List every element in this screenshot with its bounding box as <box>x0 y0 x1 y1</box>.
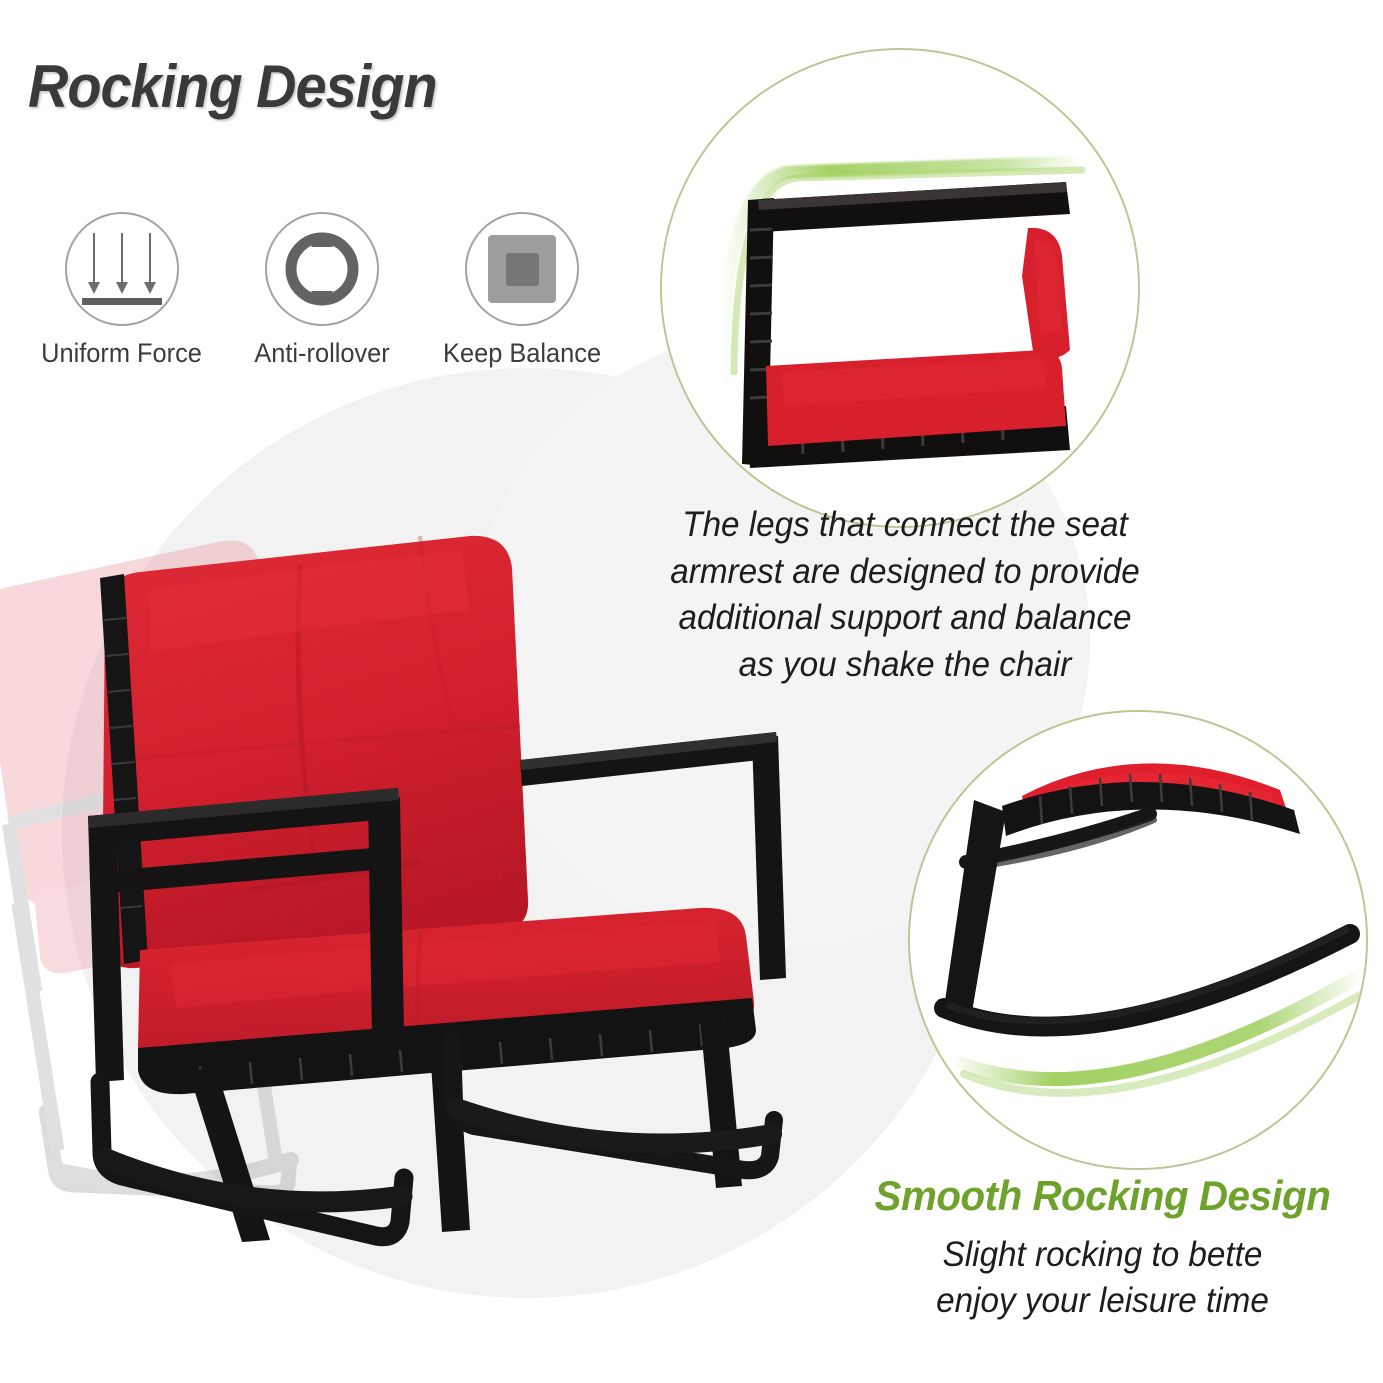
armrest-frame-closeup <box>662 50 1138 526</box>
caption-line: as you shake the chair <box>620 642 1190 689</box>
caption-line: Slight rocking to bette <box>844 1232 1362 1278</box>
feature-icon-row: Uniform Force Anti-rollover <box>22 212 622 392</box>
infographic-canvas: Rocking Design Uniform Force <box>0 0 1383 1383</box>
callout-bottom-headline: Smooth Rocking Design <box>841 1172 1364 1220</box>
feature-icon-ring <box>465 212 579 326</box>
callout-top-caption: The legs that connect the seat armrest a… <box>620 502 1190 688</box>
downward-arrows-on-bar-icon <box>82 233 162 305</box>
rotation-arrows-ring-icon <box>283 230 361 308</box>
callout-bottom-caption: Slight rocking to bette enjoy your leisu… <box>844 1232 1362 1323</box>
feature-uniform-force: Uniform Force <box>22 212 222 392</box>
feature-label: Keep Balance <box>443 338 601 369</box>
feature-icon-ring <box>65 212 179 326</box>
rocker-rails-closeup <box>910 712 1366 1168</box>
callout-seat-armrest-legs <box>660 48 1140 528</box>
feature-keep-balance: Keep Balance <box>422 212 622 392</box>
caption-line: enjoy your leisure time <box>844 1278 1362 1324</box>
feature-label: Anti-rollover <box>254 338 389 369</box>
caption-line: armrest are designed to provide <box>620 549 1190 596</box>
callout-smooth-rocking <box>908 710 1368 1170</box>
caption-line: additional support and balance <box>620 595 1190 642</box>
page-title: Rocking Design <box>28 52 437 121</box>
feature-icon-ring <box>265 212 379 326</box>
caption-line: The legs that connect the seat <box>620 502 1190 549</box>
feature-anti-rollover: Anti-rollover <box>222 212 422 392</box>
nested-squares-icon <box>488 235 556 303</box>
feature-label: Uniform Force <box>42 338 203 369</box>
